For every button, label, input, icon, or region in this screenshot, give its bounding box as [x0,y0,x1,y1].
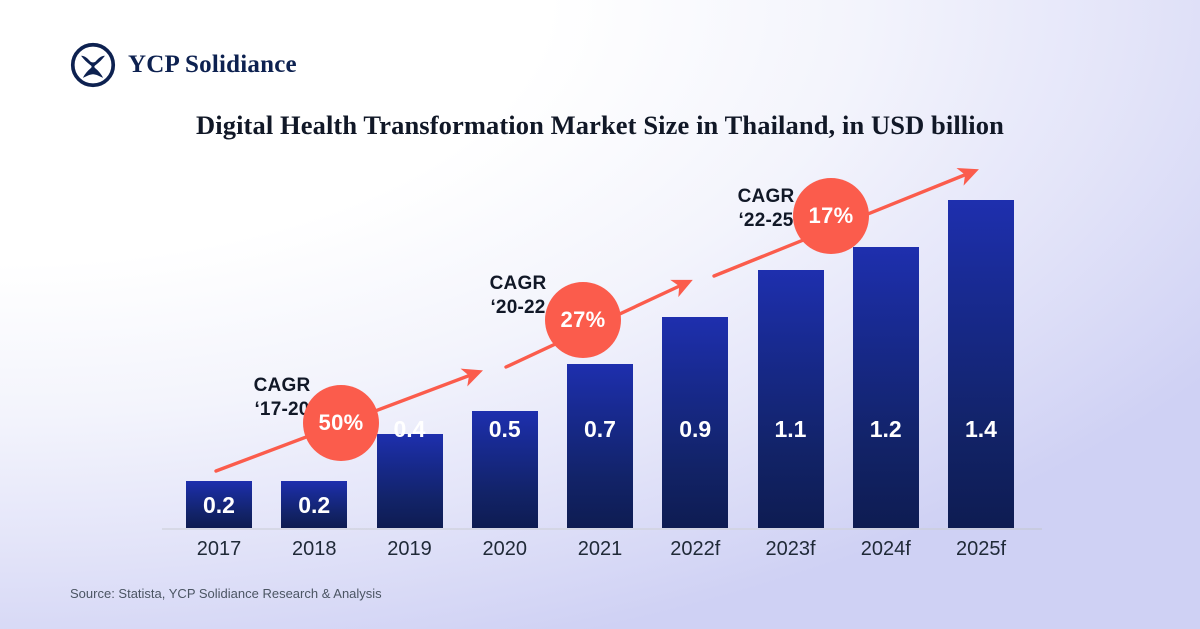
bar-value-label: 0.2 [281,492,347,519]
bar-2023f: 1.1 [758,270,824,528]
bar-2025f: 1.4 [948,200,1014,528]
bar-2018: 0.2 [281,481,347,528]
x-label-2022f: 2022f [662,532,728,566]
bar-value-label: 0.2 [186,492,252,519]
cagr-bubble-1: 50% [303,385,379,461]
bar-column: 0.4 [377,165,443,528]
x-label-2018: 2018 [281,532,347,566]
slide-canvas: YCP Solidiance Digital Health Transforma… [0,0,1200,629]
bar-value-label: 0.9 [662,416,728,443]
page-title: Digital Health Transformation Market Siz… [0,110,1200,141]
x-label-2017: 2017 [186,532,252,566]
bar-2019: 0.4 [377,434,443,528]
x-label-2019: 2019 [377,532,443,566]
bar-2020: 0.5 [472,411,538,528]
bar-2022f: 0.9 [662,317,728,528]
bar-column: 0.2 [281,165,347,528]
bar-value-label: 1.2 [853,416,919,443]
bar-column: 0.5 [472,165,538,528]
x-label-2024f: 2024f [853,532,919,566]
x-label-2020: 2020 [472,532,538,566]
cagr-label-2-line1: CAGR [470,272,566,296]
bar-value-label: 0.4 [377,416,443,443]
bar-value-label: 1.4 [948,416,1014,443]
bar-2017: 0.2 [186,481,252,528]
brand-name: YCP Solidiance [128,51,297,79]
brand-logo: YCP Solidiance [70,42,297,88]
x-axis-labels: 201720182019202020212022f2023f2024f2025f [170,532,1030,566]
source-note: Source: Statista, YCP Solidiance Researc… [70,586,382,601]
ycp-circle-y-icon [70,42,116,88]
x-label-2023f: 2023f [758,532,824,566]
bar-value-label: 0.7 [567,416,633,443]
bar-column: 1.4 [948,165,1014,528]
bar-2021: 0.7 [567,364,633,528]
bar-value-label: 1.1 [758,416,824,443]
cagr-bubble-3: 17% [793,178,869,254]
x-label-2021: 2021 [567,532,633,566]
x-label-2025f: 2025f [948,532,1014,566]
bar-2024f: 1.2 [853,247,919,528]
bar-value-label: 0.5 [472,416,538,443]
cagr-bubble-2: 27% [545,282,621,358]
bar-column: 0.2 [186,165,252,528]
